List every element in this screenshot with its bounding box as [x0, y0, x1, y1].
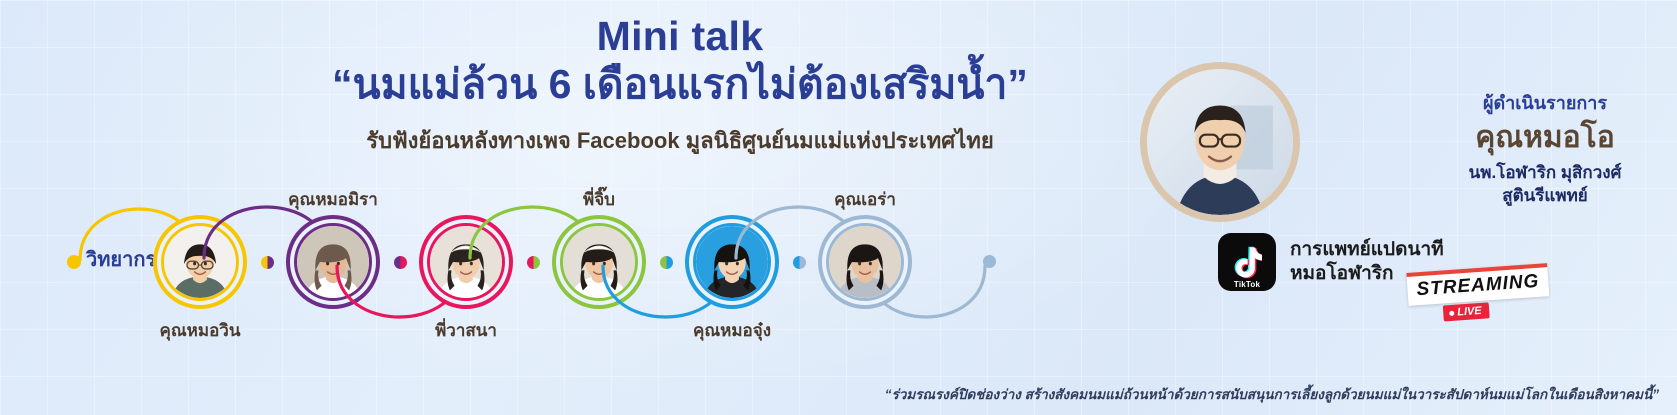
footer-note: “ร่วมรณรงค์ปิดช่องว่าง สร้างสังคมนมแม่ถ้… [0, 383, 1659, 405]
speaker-avatar-ring [552, 215, 646, 309]
host-role: ผู้ดำเนินรายการ [1420, 88, 1670, 117]
speaker-node[interactable] [818, 215, 912, 309]
connector-dot [983, 255, 996, 268]
host-details: ผู้ดำเนินรายการ คุณหมอโอ นพ.โอฬาริก มุสิ… [1420, 88, 1670, 208]
live-dot-icon [1449, 310, 1454, 315]
host-fullname-line1: นพ.โอฬาริก มุสิกวงศ์ [1420, 162, 1670, 185]
speaker-node[interactable] [153, 215, 247, 309]
host-portrait [1147, 69, 1293, 215]
speaker-portrait [560, 223, 638, 301]
tiktok-note-icon [1232, 246, 1262, 279]
host-avatar [1140, 62, 1300, 222]
speaker-node[interactable] [552, 215, 646, 309]
connector-dot [527, 256, 540, 269]
tiktok-label: TikTok [1218, 280, 1276, 289]
speaker-node[interactable] [685, 215, 779, 309]
speaker-avatar-ring [419, 215, 513, 309]
speaker-name: คุณหมอมิรา [233, 186, 433, 213]
speaker-name: คุณหมอวิน [100, 317, 300, 344]
speaker-portrait [826, 223, 904, 301]
host-nickname: คุณหมอโอ [1420, 121, 1670, 154]
connector-dot [67, 255, 81, 269]
speaker-name: คุณหมอจุ๋ง [632, 317, 832, 344]
speakers-row: คุณหมอวิน คุณหมอมิรา [0, 185, 1060, 345]
speaker-portrait [161, 223, 239, 301]
speaker-portrait [427, 223, 505, 301]
speaker-avatar-ring [153, 215, 247, 309]
speaker-portrait [294, 223, 372, 301]
connector-dot [793, 256, 806, 269]
title-subtitle: รับฟังย้อนหลังทางเพจ Facebook มูลนิธิศูน… [300, 123, 1060, 158]
host-fullname-line2: สูตินรีแพทย์ [1420, 185, 1670, 208]
streaming-badge: STREAMING LIVE [1406, 263, 1550, 324]
live-label: LIVE [1457, 305, 1482, 319]
channel-title-line1: การแพทย์แปดนาที [1290, 238, 1444, 262]
speaker-avatar-ring [818, 215, 912, 309]
speaker-name: พี่จิ๊บ [499, 186, 699, 213]
live-badge: LIVE [1443, 302, 1490, 321]
promo-banner: Mini talk “นมแม่ล้วน 6 เดือนแรกไม่ต้องเส… [0, 0, 1677, 415]
tiktok-icon[interactable]: TikTok [1218, 233, 1276, 291]
title-quote: “นมแม่ล้วน 6 เดือนแรกไม่ต้องเสริมน้ำ” [300, 60, 1060, 109]
host-avatar-ring [1140, 62, 1300, 222]
speaker-avatar-ring [685, 215, 779, 309]
speaker-node[interactable] [419, 215, 513, 309]
speaker-node[interactable] [286, 215, 380, 309]
speaker-name: พี่วาสนา [366, 317, 566, 344]
connector-dot [394, 256, 407, 269]
connector-dot [261, 256, 274, 269]
title-main: Mini talk [300, 14, 1060, 60]
speaker-avatar-ring [286, 215, 380, 309]
speaker-name: คุณเอร่า [765, 186, 965, 213]
connector-dot [660, 256, 673, 269]
title-block: Mini talk “นมแม่ล้วน 6 เดือนแรกไม่ต้องเส… [300, 14, 1060, 158]
speaker-portrait [693, 223, 771, 301]
